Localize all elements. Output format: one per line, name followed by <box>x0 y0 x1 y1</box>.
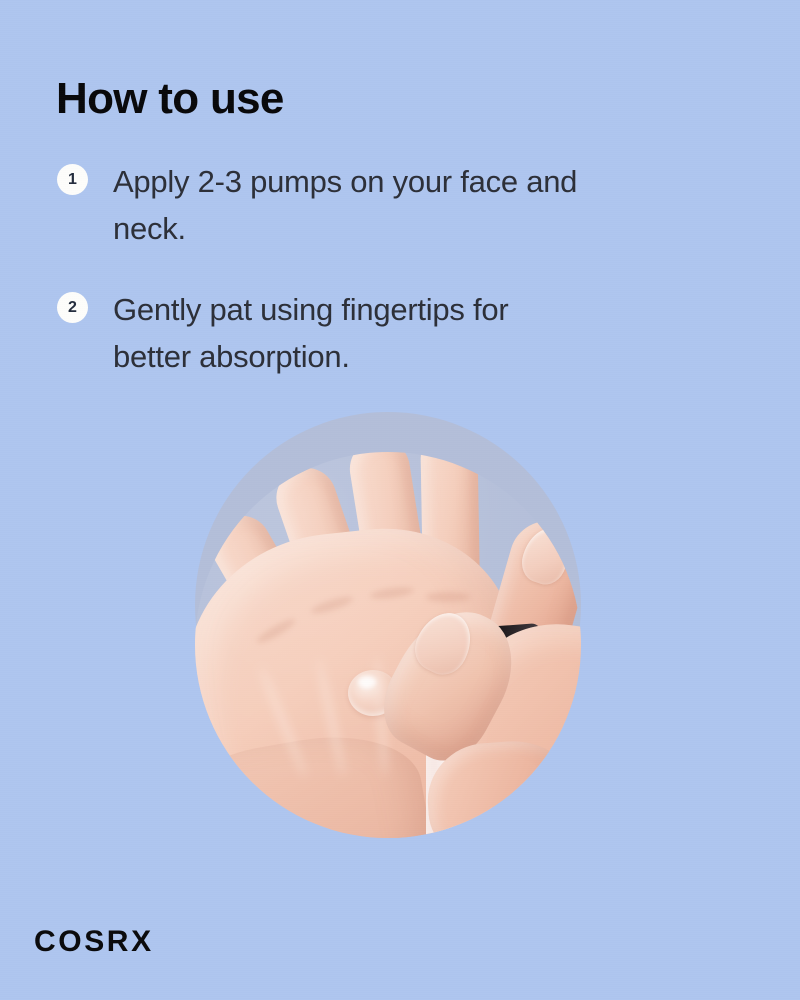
how-to-use-card: How to use 1 Apply 2-3 pumps on your fac… <box>0 0 800 1000</box>
steps-list: 1 Apply 2-3 pumps on your face and neck.… <box>57 158 677 414</box>
page-title: How to use <box>56 73 284 125</box>
step-number-badge: 1 <box>57 164 88 195</box>
step-text: Gently pat using fingertips for better a… <box>113 286 593 380</box>
serum-droplet-highlight <box>358 676 376 688</box>
right-hand-lower-finger <box>424 737 582 867</box>
brand-logo: COSRX <box>34 925 154 959</box>
step-text: Apply 2-3 pumps on your face and neck. <box>113 158 593 252</box>
list-item: 1 Apply 2-3 pumps on your face and neck. <box>57 158 677 252</box>
step-number-badge: 2 <box>57 292 88 323</box>
bottle-base-edge <box>461 843 511 877</box>
photo-scene <box>150 412 650 877</box>
knuckle-shadow <box>426 592 470 602</box>
hands-applying-serum-photo <box>150 412 650 877</box>
list-item: 2 Gently pat using fingertips for better… <box>57 286 677 380</box>
